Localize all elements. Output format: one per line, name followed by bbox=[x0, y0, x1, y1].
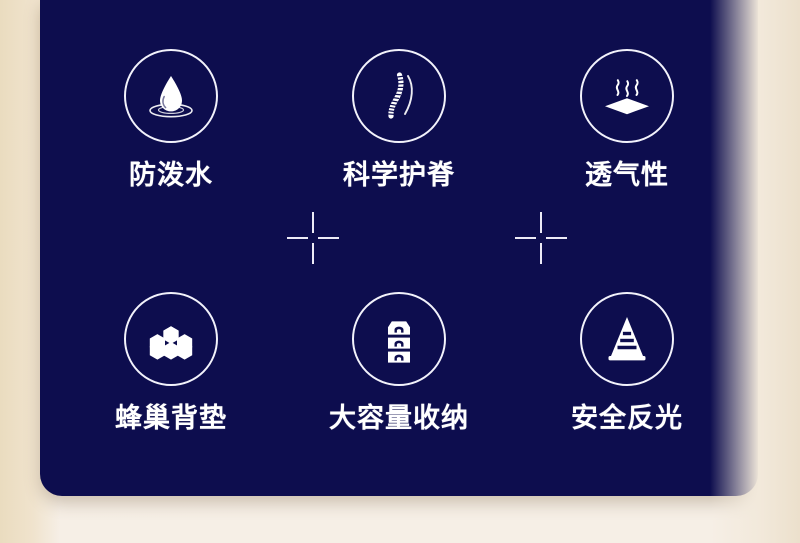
feature-badge bbox=[580, 292, 674, 386]
feature-badge bbox=[124, 292, 218, 386]
page-background: 防泼水 bbox=[0, 0, 800, 543]
feature-label: 透气性 bbox=[532, 161, 722, 191]
feature-item-water-repellent[interactable]: 防泼水 bbox=[76, 49, 266, 191]
feature-item-honeycomb-back-pad[interactable]: 蜂巢背垫 bbox=[76, 292, 266, 434]
feature-item-spine-support[interactable]: 科学护脊 bbox=[304, 49, 494, 191]
feature-badge bbox=[352, 292, 446, 386]
feature-grid: 防泼水 bbox=[40, 0, 758, 496]
feature-card: 防泼水 bbox=[40, 0, 758, 496]
honeycomb-icon bbox=[140, 308, 202, 370]
water-drop-icon bbox=[140, 65, 202, 127]
traffic-cone-icon bbox=[596, 308, 658, 370]
drawers-icon bbox=[368, 308, 430, 370]
feature-label: 安全反光 bbox=[532, 404, 722, 434]
crosshair-icon-right bbox=[515, 212, 567, 264]
feature-badge bbox=[580, 49, 674, 143]
feature-label: 大容量收纳 bbox=[304, 404, 494, 434]
spine-icon bbox=[368, 65, 430, 127]
feature-label: 科学护脊 bbox=[304, 161, 494, 191]
feature-label: 蜂巢背垫 bbox=[76, 404, 266, 434]
feature-badge bbox=[124, 49, 218, 143]
breathable-mesh-icon bbox=[596, 65, 658, 127]
feature-label: 防泼水 bbox=[76, 161, 266, 191]
feature-item-safety-reflective[interactable]: 安全反光 bbox=[532, 292, 722, 434]
crosshair-icon-left bbox=[287, 212, 339, 264]
feature-item-large-capacity-storage[interactable]: 大容量收纳 bbox=[304, 292, 494, 434]
feature-badge bbox=[352, 49, 446, 143]
feature-item-breathability[interactable]: 透气性 bbox=[532, 49, 722, 191]
